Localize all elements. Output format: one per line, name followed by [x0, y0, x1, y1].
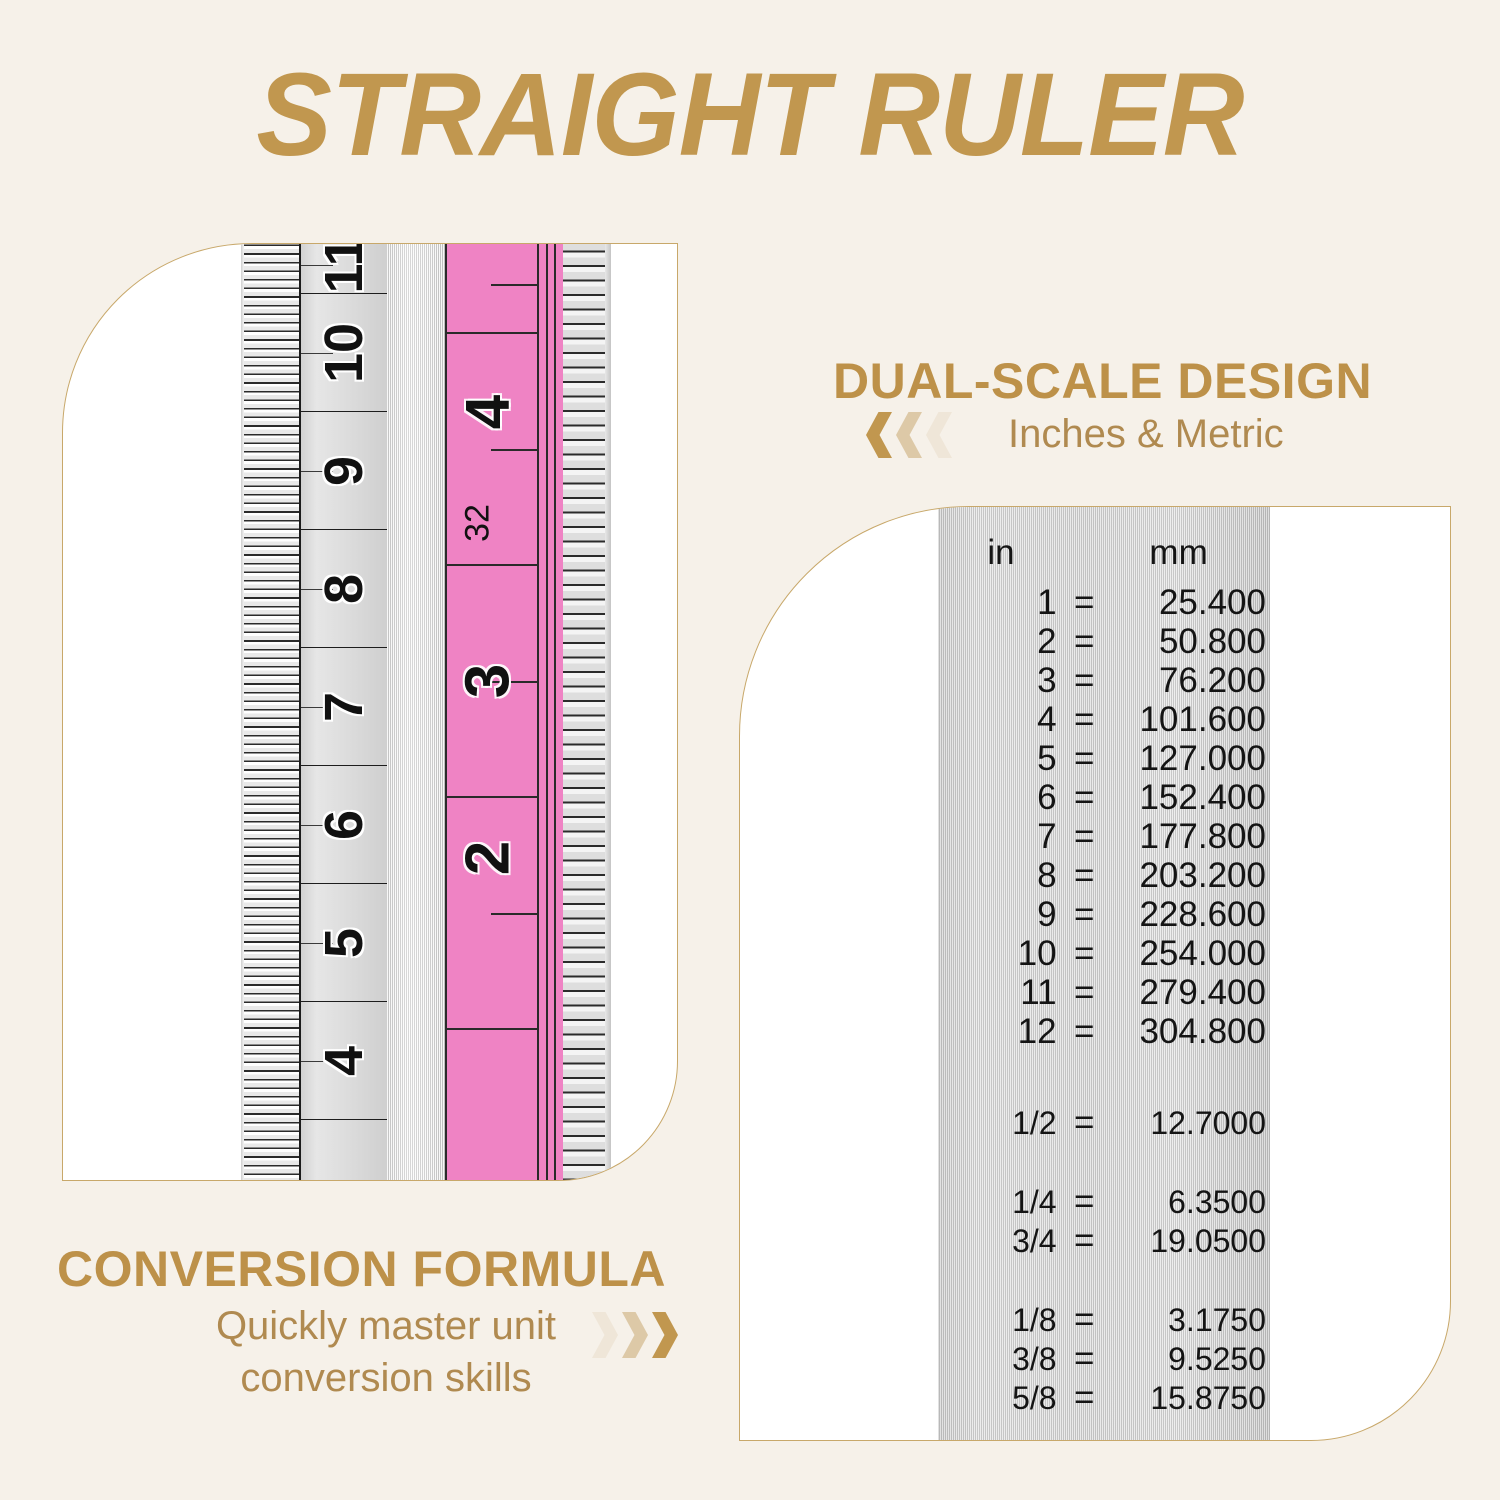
table-gap: [938, 1260, 1270, 1300]
table-row: 8 = 203.200: [938, 856, 1270, 895]
cell-in: 3: [938, 661, 1057, 700]
cell-mm: 15.8750: [1112, 1379, 1270, 1418]
chevron-group-right: [592, 1312, 682, 1358]
cell-mm: 228.600: [1112, 895, 1270, 934]
cell-equals: =: [1057, 856, 1112, 895]
cell-in: 3/4: [938, 1222, 1057, 1261]
table-gap: [938, 1142, 1270, 1182]
metric-number: 9: [313, 455, 375, 485]
table-row: 1/2 = 12.7000: [938, 1103, 1270, 1142]
chevron-left-icon: [896, 412, 922, 458]
cell-mm: 3.1750: [1112, 1301, 1270, 1340]
cell-equals: =: [1057, 1221, 1112, 1260]
table-row: 3/8 = 9.5250: [938, 1339, 1270, 1378]
metric-number: 4: [313, 1045, 375, 1075]
cell-equals: =: [1057, 661, 1112, 700]
metric-cell: 10: [301, 294, 387, 412]
cell-in: 4: [938, 700, 1057, 739]
conversion-chart-panel: in mm 1 = 25.400 2 = 50.800 3 = 76.200 4: [739, 506, 1451, 1441]
aluminium-body: [387, 243, 445, 1181]
cell-mm: 50.800: [1112, 622, 1270, 661]
conversion-table: in mm 1 = 25.400 2 = 50.800 3 = 76.200 4: [938, 533, 1270, 1417]
inch-scale-band: 4 32 3 2: [445, 243, 537, 1181]
cell-equals: =: [1057, 973, 1112, 1012]
cell-in: 5: [938, 739, 1057, 778]
cell-equals: =: [1057, 1378, 1112, 1417]
inch-cell: 4 32: [447, 334, 537, 566]
chevron-left-icon: [926, 412, 952, 458]
feature-title-conversion-formula: CONVERSION FORMULA: [57, 1240, 666, 1298]
cell-equals: =: [1057, 739, 1112, 778]
cell-equals: =: [1057, 1300, 1112, 1339]
table-row: 7 = 177.800: [938, 817, 1270, 856]
cell-in: 10: [938, 934, 1057, 973]
inch-divider-lines: [537, 243, 563, 1181]
cell-mm: 304.800: [1112, 1012, 1270, 1051]
cell-equals: =: [1057, 895, 1112, 934]
page-title: STRAIGHT RULER: [30, 56, 1470, 174]
cell-mm: 101.600: [1112, 700, 1270, 739]
inch-number: 2: [453, 841, 524, 875]
inch-cell: [447, 243, 537, 334]
inch-number: 4: [453, 395, 524, 429]
metric-number: 6: [313, 809, 375, 839]
cell-in: 12: [938, 1012, 1057, 1051]
table-row: 12 = 304.800: [938, 1012, 1270, 1051]
table-row: 3 = 76.200: [938, 661, 1270, 700]
ruler-image: 11 10 9 8 7 6 5 4: [241, 243, 611, 1181]
chevron-right-icon: [652, 1312, 678, 1358]
feature-subtitle-dual-scale: Inches & Metric: [1008, 412, 1284, 457]
cell-in: 1: [938, 583, 1057, 622]
cell-mm: 12.7000: [1112, 1104, 1270, 1143]
cell-mm: 76.200: [1112, 661, 1270, 700]
table-row: 4 = 101.600: [938, 700, 1270, 739]
table-row: 5/8 = 15.8750: [938, 1378, 1270, 1417]
aluminium-strip: in mm 1 = 25.400 2 = 50.800 3 = 76.200 4: [938, 507, 1270, 1441]
cell-mm: 279.400: [1112, 973, 1270, 1012]
table-row: 1/4 = 6.3500: [938, 1182, 1270, 1221]
inch-number: 3: [453, 664, 524, 698]
cell-in: 1/2: [938, 1104, 1057, 1143]
metric-number: 8: [313, 573, 375, 603]
cell-mm: 152.400: [1112, 778, 1270, 817]
chevron-group-left: [866, 412, 956, 458]
column-header-in: in: [938, 533, 1056, 572]
metric-number: 7: [313, 691, 375, 721]
metric-cell: 9: [301, 412, 387, 530]
metric-cell: 6: [301, 766, 387, 884]
table-header-row: in mm: [938, 533, 1270, 583]
cell-in: 7: [938, 817, 1057, 856]
inch-tick-marks: [563, 243, 611, 1181]
table-row: 2 = 50.800: [938, 622, 1270, 661]
cell-mm: 6.3500: [1112, 1183, 1270, 1222]
cell-equals: =: [1057, 583, 1112, 622]
metric-cell: 5: [301, 884, 387, 1002]
table-row: 10 = 254.000: [938, 934, 1270, 973]
table-row: 5 = 127.000: [938, 739, 1270, 778]
inch-cell: 2: [447, 798, 537, 1030]
cell-mm: 127.000: [1112, 739, 1270, 778]
metric-cell: 11: [301, 243, 387, 294]
metric-cell: 8: [301, 530, 387, 648]
cell-equals: =: [1057, 817, 1112, 856]
chevron-right-icon: [592, 1312, 618, 1358]
cell-in: 3/8: [938, 1340, 1057, 1379]
cell-equals: =: [1057, 1012, 1112, 1051]
table-row: 3/4 = 19.0500: [938, 1221, 1270, 1260]
cell-in: 9: [938, 895, 1057, 934]
table-row: 9 = 228.600: [938, 895, 1270, 934]
cell-in: 5/8: [938, 1379, 1057, 1418]
cell-mm: 254.000: [1112, 934, 1270, 973]
metric-tick-marks: [241, 243, 299, 1181]
cell-in: 1/8: [938, 1301, 1057, 1340]
cell-mm: 203.200: [1112, 856, 1270, 895]
cell-in: 6: [938, 778, 1057, 817]
cell-in: 8: [938, 856, 1057, 895]
inch-subdivision-label: 32: [458, 504, 497, 542]
table-row: 6 = 152.400: [938, 778, 1270, 817]
table-gap: [938, 1051, 1270, 1103]
inch-cell: 3: [447, 566, 537, 798]
feature-title-dual-scale: DUAL-SCALE DESIGN: [833, 352, 1372, 410]
cell-mm: 177.800: [1112, 817, 1270, 856]
metric-cell: 4: [301, 1002, 387, 1120]
cell-equals: =: [1057, 934, 1112, 973]
ruler-photo-panel: 11 10 9 8 7 6 5 4: [62, 243, 678, 1181]
cell-mm: 19.0500: [1112, 1222, 1270, 1261]
cell-mm: 9.5250: [1112, 1340, 1270, 1379]
cell-equals: =: [1057, 1182, 1112, 1221]
cell-equals: =: [1057, 1103, 1112, 1142]
chevron-left-icon: [866, 412, 892, 458]
cell-equals: =: [1057, 700, 1112, 739]
column-header-mm: mm: [1107, 533, 1270, 572]
table-row: 1 = 25.400: [938, 583, 1270, 622]
metric-number: 5: [313, 927, 375, 957]
metric-cell: 7: [301, 648, 387, 766]
metric-number: 10: [313, 322, 375, 382]
table-row: 11 = 279.400: [938, 973, 1270, 1012]
table-row: 1/8 = 3.1750: [938, 1300, 1270, 1339]
cell-equals: =: [1057, 1339, 1112, 1378]
metric-number: 11: [313, 243, 375, 293]
cell-in: 2: [938, 622, 1057, 661]
feature-subtitle-conversion-formula: Quickly master unit conversion skills: [206, 1300, 566, 1404]
cell-in: 11: [938, 973, 1057, 1012]
cell-equals: =: [1057, 778, 1112, 817]
metric-scale-body: 11 10 9 8 7 6 5 4: [299, 243, 387, 1181]
cell-in: 1/4: [938, 1183, 1057, 1222]
chevron-right-icon: [622, 1312, 648, 1358]
cell-equals: =: [1057, 622, 1112, 661]
cell-mm: 25.400: [1112, 583, 1270, 622]
